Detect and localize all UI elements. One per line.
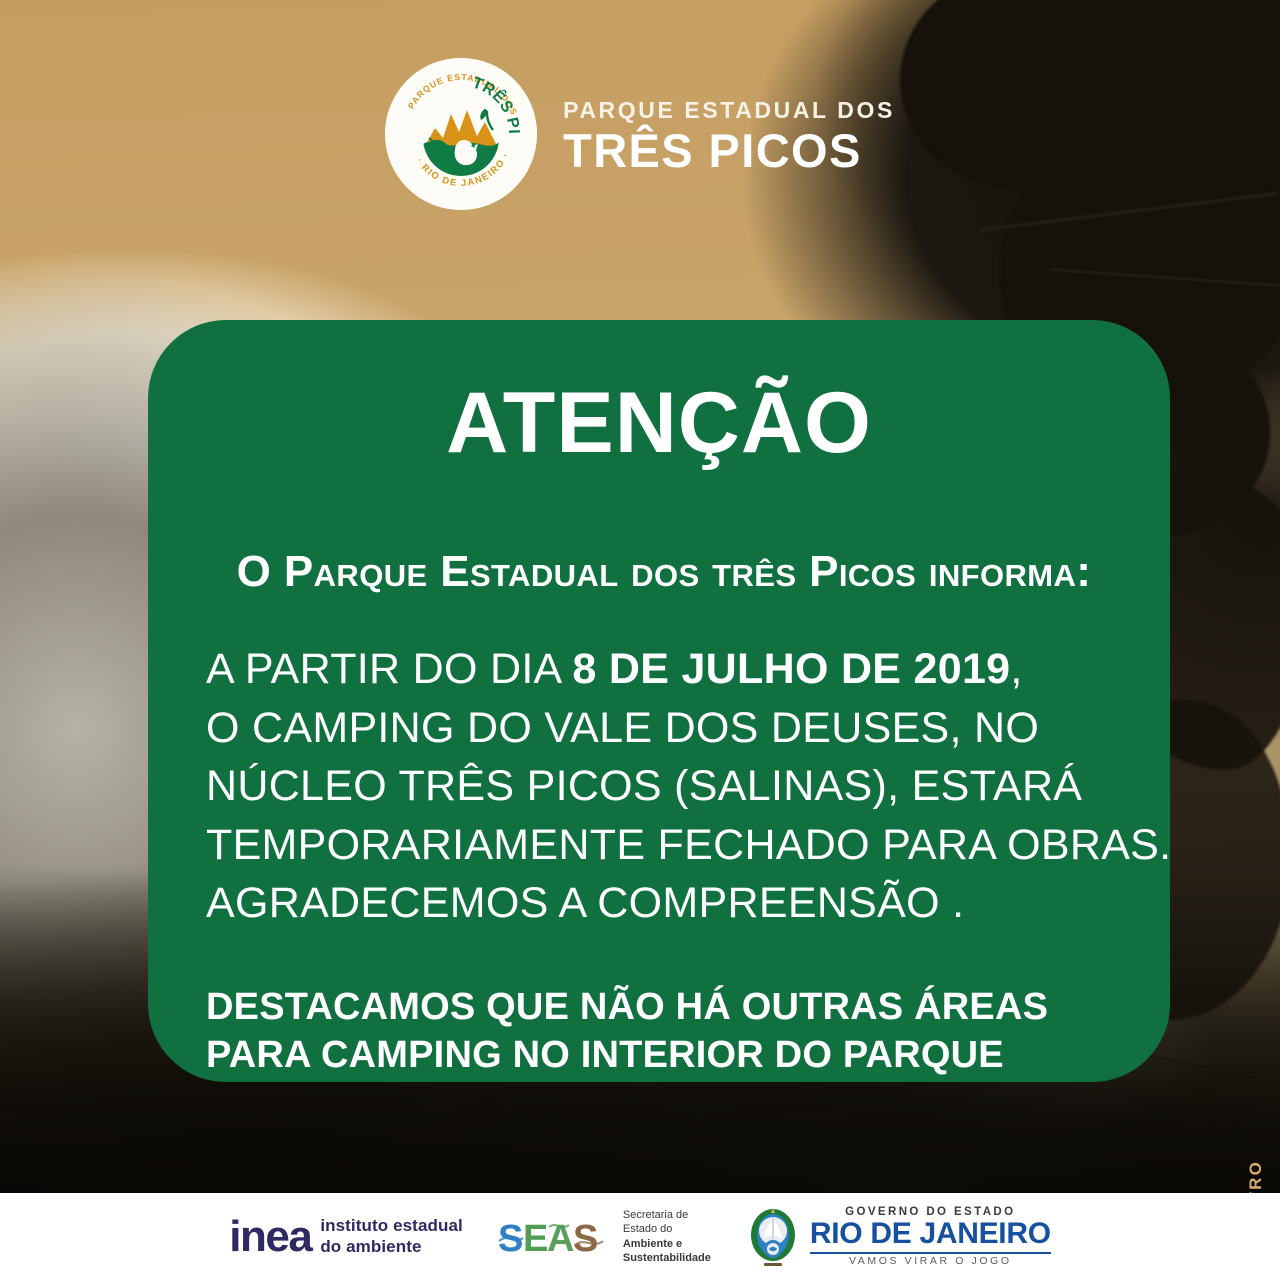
- gov-rj-line3: VAMOS VIRAR O JOGO: [810, 1256, 1051, 1267]
- notice-body-bold: 8 DE JULHO DE 2019: [572, 645, 1010, 693]
- gov-rj-divider: [810, 1252, 1051, 1254]
- header-wordmark-line1: PARQUE ESTADUAL DOS: [563, 99, 895, 122]
- announcement-poster: PARQUE ESTADUAL DOS TRÊS PICOS · RIO DE …: [0, 0, 1280, 1280]
- header: PARQUE ESTADUAL DOS TRÊS PICOS · RIO DE …: [0, 58, 1280, 210]
- seas-mark-icon: S E A S: [497, 1211, 615, 1263]
- notice-subtitle: O Parque Estadual dos três Picos informa…: [204, 548, 1114, 596]
- inea-subtitle: instituto estadual do ambiente: [320, 1216, 463, 1256]
- notice-body: A PARTIR DO DIA 8 DE JULHO DE 2019, O CA…: [204, 640, 1114, 932]
- header-wordmark-line2: TRÊS PICOS: [563, 127, 895, 175]
- page-title: ATENÇÃO: [204, 380, 1114, 466]
- svg-text:A: A: [547, 1218, 574, 1260]
- notice-body-prefix: A PARTIR DO DIA: [206, 645, 572, 693]
- notice-card: ATENÇÃO O Parque Estadual dos três Picos…: [148, 320, 1170, 1082]
- seas-subtitle: Secretaria de Estado do Ambiente e Suste…: [623, 1208, 711, 1265]
- header-wordmark: PARQUE ESTADUAL DOS TRÊS PICOS: [563, 93, 895, 175]
- seas-subtitle-line2: Estado do: [623, 1222, 711, 1236]
- notice-emphasis-line: PARA CAMPING NO INTERIOR DO PARQUE: [206, 1031, 1114, 1080]
- notice-emphasis: DESTACAMOS QUE NÃO HÁ OUTRAS ÁREAS PARA …: [204, 983, 1114, 1080]
- inea-logo-icon: inea instituto estadual do ambiente: [229, 1216, 463, 1256]
- inea-wordmark: inea: [229, 1219, 311, 1254]
- rio-de-janeiro-coat-of-arms-icon: [745, 1205, 801, 1269]
- notice-body-line: A PARTIR DO DIA 8 DE JULHO DE 2019,: [206, 640, 1114, 698]
- seas-subtitle-line1: Secretaria de: [623, 1208, 711, 1222]
- svg-text:S: S: [573, 1218, 598, 1260]
- park-seal-badge-icon: PARQUE ESTADUAL DOS TRÊS PICOS · RIO DE …: [385, 58, 537, 210]
- gov-rj-wordmark: GOVERNO DO ESTADO RIO DE JANEIRO VAMOS V…: [810, 1207, 1051, 1267]
- seas-subtitle-line3: Ambiente e: [623, 1237, 711, 1251]
- inea-subtitle-line1: instituto estadual: [320, 1216, 463, 1236]
- seas-subtitle-line4: Sustentabilidade: [623, 1251, 711, 1265]
- svg-text:E: E: [523, 1218, 548, 1260]
- inea-subtitle-line2: do ambiente: [320, 1237, 463, 1257]
- gov-rj-logo-icon: GOVERNO DO ESTADO RIO DE JANEIRO VAMOS V…: [745, 1205, 1051, 1269]
- notice-emphasis-line: DESTACAMOS QUE NÃO HÁ OUTRAS ÁREAS: [206, 983, 1114, 1032]
- seas-logo-icon: S E A S Secretaria de Estado do Ambiente…: [497, 1208, 711, 1265]
- notice-body-line: NÚCLEO TRÊS PICOS (SALINAS), ESTARÁ: [206, 757, 1114, 815]
- notice-body-line: AGRADECEMOS A COMPREENSÃO .: [206, 874, 1114, 932]
- notice-body-line: O CAMPING DO VALE DOS DEUSES, NO: [206, 699, 1114, 757]
- notice-body-suffix: ,: [1010, 645, 1022, 693]
- footer-logo-bar: inea instituto estadual do ambiente S E …: [0, 1193, 1280, 1280]
- gov-rj-line2: RIO DE JANEIRO: [810, 1218, 1051, 1250]
- notice-body-line: TEMPORARIAMENTE FECHADO PARA OBRAS.: [206, 816, 1114, 874]
